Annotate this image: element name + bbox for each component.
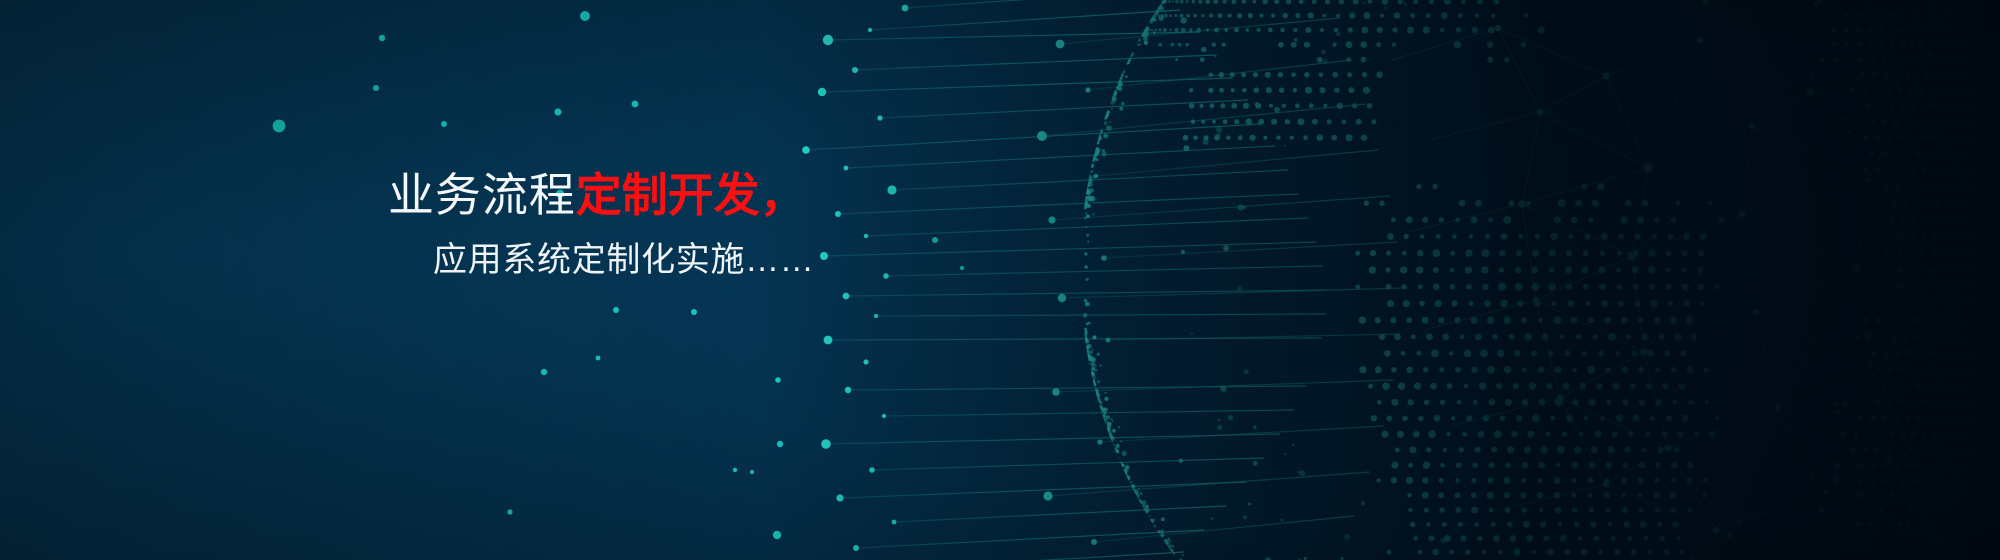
hero-banner: 业务流程定制开发， 应用系统定制化实施…… <box>0 0 2000 560</box>
vignette-overlay <box>0 0 2000 560</box>
